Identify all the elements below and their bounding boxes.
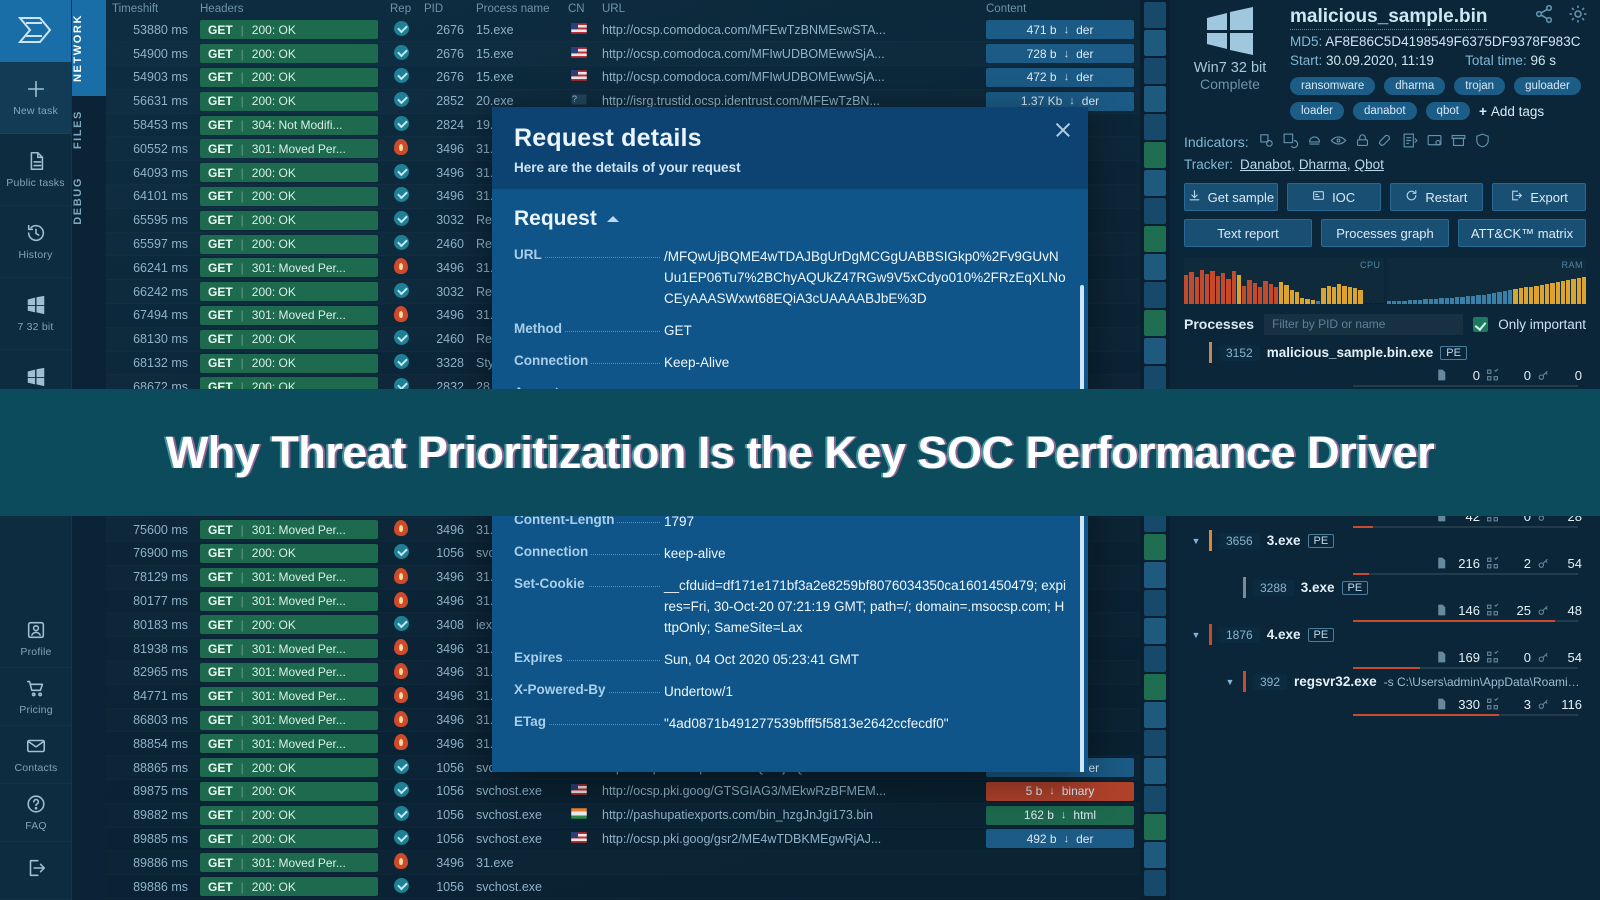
cell-pid: 1056 [418,756,470,780]
column-header-cn[interactable]: CN [562,0,596,18]
http-method: GET [208,118,233,132]
status-badge[interactable]: GET | 301: Moved Per... [200,258,378,277]
report-actions[interactable]: Text reportProcesses graphATT&CK™ matrix [1184,219,1586,247]
tab-files[interactable]: FILES [72,96,106,163]
lock-indicator-icon[interactable] [1354,132,1371,152]
network-row[interactable]: 89875 ms GET | 200: OK 1056 svchost.exe … [106,780,1140,804]
status-badge[interactable]: GET | 301: Moved Per... [200,687,378,706]
cell-reputation [384,89,418,113]
cell-timeshift: 89882 ms [106,803,194,827]
ok-check-icon [394,68,409,83]
screenshot-indicator-icon[interactable] [1426,132,1443,152]
graph-bar [1445,298,1449,304]
primary-actions[interactable]: Get sampleIOCRestartExport [1184,183,1586,211]
file-icon [1435,603,1448,617]
cell-headers[interactable]: GET | 301: Moved Per... [194,661,384,685]
add-tags-label: Add tags [1491,104,1544,119]
status-badge[interactable]: GET | 200: OK [200,92,378,111]
network-row[interactable]: 89886 ms GET | 200: OK 1056 svchost.exe [106,875,1140,899]
graph-bar [1487,294,1491,304]
process-name[interactable]: 3.exe [1301,580,1335,595]
cell-headers[interactable]: GET | 200: OK [194,208,384,232]
http-status: 200: OK [252,285,296,299]
status-badge[interactable]: GET | 200: OK [200,758,378,777]
content-badge[interactable]: 5 b ↓ binary [986,782,1134,801]
app-logo-icon[interactable] [0,0,71,62]
cell-headers[interactable]: GET | 304: Not Modifi... [194,113,384,137]
http-method: GET [208,713,233,727]
cell-headers[interactable]: GET | 200: OK [194,161,384,185]
status-badge[interactable]: GET | 200: OK [200,354,378,373]
rocket-indicator-icon[interactable] [1378,132,1395,152]
status-badge[interactable]: GET | 200: OK [200,877,378,896]
cell-headers[interactable]: GET | 301: Moved Per... [194,304,384,328]
cell-country [562,780,596,804]
status-badge[interactable]: GET | 200: OK [200,235,378,254]
cell-headers[interactable]: GET | 301: Moved Per... [194,256,384,280]
tag-dharma[interactable]: dharma [1384,77,1445,95]
rail-item-pricing[interactable]: Pricing [0,668,72,726]
field-key: ETag [514,714,664,729]
strip-cell [1144,58,1166,84]
rail-item-7-32-bit[interactable]: 7 32 bit [0,278,71,350]
status-badge[interactable]: GET | 301: Moved Per... [200,639,378,658]
graph-bar [1556,282,1560,304]
process-name[interactable]: 3.exe [1267,533,1301,548]
ok-check-icon [394,116,409,131]
graph-bar [1205,274,1209,304]
report-att-ck-matrix-button[interactable]: ATT&CK™ matrix [1458,219,1586,247]
network-row[interactable]: 89882 ms GET | 200: OK 1056 svchost.exe … [106,803,1140,827]
ok-check-icon [394,45,409,60]
cell-headers[interactable]: GET | 200: OK [194,185,384,209]
graph-bar [1221,273,1225,304]
graph-bar [1290,290,1294,304]
status-badge[interactable]: GET | 200: OK [200,544,378,563]
malicious-fire-icon [394,663,408,679]
chevron-up-icon[interactable] [607,216,619,222]
status-badge[interactable]: GET | 200: OK [200,615,378,634]
http-status: 301: Moved Per... [252,665,346,679]
column-header-timeshift[interactable]: Timeshift [106,0,194,18]
graph-bar [1503,291,1507,304]
rail-item-label: History [18,249,52,261]
rail-item-public-tasks[interactable]: Public tasks [0,134,71,206]
script-indicator-icon[interactable] [1402,132,1419,152]
report-processes-graph-button[interactable]: Processes graph [1321,219,1449,247]
modules-count: 3 [1505,697,1531,712]
article-title-banner: Why Threat Prioritization Is the Key SOC… [0,389,1600,516]
http-status: 301: Moved Per... [252,689,346,703]
http-status: 200: OK [252,356,296,370]
download-arrow-icon: ↓ [1061,809,1067,821]
cell-content: 471 b ↓ der [980,18,1140,42]
ok-check-icon [394,330,409,345]
content-badge[interactable]: 162 b ↓ html [986,806,1134,825]
malicious-fire-icon [394,139,408,155]
tag-ransomware[interactable]: ransomware [1290,77,1375,95]
http-status: 301: Moved Per... [252,713,346,727]
report-text-report-button[interactable]: Text report [1184,219,1312,247]
graph-bar [1369,303,1373,304]
cell-process-name: svchost.exe [470,827,562,851]
cell-reputation [384,42,418,66]
cell-reputation [384,351,418,375]
cell-pid: 3496 [418,256,470,280]
cell-process-name: 31.exe [470,851,562,875]
tag-list[interactable]: ransomwaredharmatrojanguloaderloaderdana… [1290,77,1586,120]
archive-indicator-icon[interactable] [1450,132,1467,152]
cell-pid: 3496 [418,518,470,542]
cell-url[interactable]: http://ocsp.comodoca.com/MFIwUDBOMEwwSjA… [596,42,980,66]
md5-label: MD5: [1290,34,1322,49]
cell-timeshift: 75600 ms [106,518,194,542]
column-header-pid[interactable]: PID [418,0,470,18]
rail-item-new-task[interactable]: New task [0,62,71,134]
cell-process-name: 15.exe [470,66,562,90]
cell-headers[interactable]: GET | 200: OK [194,66,384,90]
start-label: Start: [1290,53,1322,68]
rail-item-history[interactable]: History [0,206,71,278]
graph-bar [1455,297,1459,304]
dll-indicator-icon[interactable] [1306,132,1323,152]
cell-url[interactable]: http://ocsp.comodoca.com/MFIwUDBOMEwwSjA… [596,66,980,90]
rail-item-faq[interactable]: FAQ [0,784,72,842]
content-size: 162 b [1024,808,1054,822]
column-header-content[interactable]: Content [980,0,1140,18]
field-key: X-Powered-By [514,682,664,697]
dialog-header: Request details Here are the details of … [492,107,1088,189]
cell-headers[interactable]: GET | 301: Moved Per... [194,565,384,589]
cell-headers[interactable]: GET | 200: OK [194,232,384,256]
rail-item-contacts[interactable]: Contacts [0,726,72,784]
ioc-card-icon [1312,189,1325,205]
cell-headers[interactable]: GET | 200: OK [194,780,384,804]
status-badge[interactable]: GET | 304: Not Modifi... [200,116,378,135]
activity-bar [1353,385,1578,387]
field-value: __cfduid=df171e171bf3a2e8259bf8076034350… [664,576,1066,639]
shield-indicator-icon[interactable] [1474,132,1491,152]
cell-headers[interactable]: GET | 200: OK [194,18,384,42]
cell-headers[interactable]: GET | 200: OK [194,827,384,851]
action-restart-button[interactable]: Restart [1390,183,1484,211]
download-arrow-icon: ↓ [1069,95,1075,107]
network-row[interactable]: 89886 ms GET | 301: Moved Per... 3496 31… [106,851,1140,875]
expand-toggle-icon[interactable]: ▼ [1224,677,1236,687]
sample-name[interactable]: malicious_sample.bin [1290,6,1487,30]
cell-headers[interactable]: GET | 301: Moved Per... [194,732,384,756]
column-header-headers[interactable]: Headers [194,0,384,18]
strip-cell [1144,310,1166,336]
field-value: /MFQwUjBQME4wTDAJBgUrDgMCGgUABBSIGkp0%2F… [664,247,1066,310]
gear-icon[interactable] [1568,4,1588,24]
ok-check-icon [394,544,409,559]
content-badge[interactable]: 728 b ↓ der [986,44,1134,63]
cell-country [562,803,596,827]
strip-cell [1144,198,1166,224]
cell-headers[interactable]: GET | 200: OK [194,280,384,304]
process-row[interactable]: 3288 3.exe PE 146 25 48 [1184,577,1586,622]
eye-indicator-icon[interactable] [1330,132,1347,152]
malicious-fire-icon [394,711,408,727]
tag-danabot[interactable]: danabot [1353,102,1417,120]
network-row[interactable]: 89885 ms GET | 200: OK 1056 svchost.exe … [106,827,1140,851]
status-badge[interactable]: GET | 301: Moved Per... [200,568,378,587]
http-method: GET [208,665,233,679]
expand-toggle-icon[interactable]: ▼ [1190,536,1202,546]
cell-url[interactable] [596,875,980,899]
rail-item-logout[interactable] [0,842,72,900]
status-badge[interactable]: GET | 301: Moved Per... [200,734,378,753]
field-key: URL [514,247,664,262]
add-tags-button[interactable]: +Add tags [1479,104,1544,119]
cell-content: 162 b ↓ html [980,803,1140,827]
process-row[interactable]: ▼ 1876 4.exe PE 169 0 54 [1184,624,1586,669]
status-badge[interactable]: GET | 301: Moved Per... [200,306,378,325]
tag-guloader[interactable]: guloader [1514,77,1581,95]
country-flag-icon [571,70,587,81]
graph-bar [1534,286,1538,304]
status-badge[interactable]: GET | 301: Moved Per... [200,663,378,682]
status-badge[interactable]: GET | 200: OK [200,829,378,848]
status-badge[interactable]: GET | 200: OK [200,20,378,39]
cell-headers[interactable]: GET | 200: OK [194,42,384,66]
plus-icon [25,78,47,100]
cell-content [980,851,1140,875]
cell-headers[interactable]: GET | 301: Moved Per... [194,137,384,161]
http-status: 301: Moved Per... [252,261,346,275]
network-indicator-icon[interactable] [1258,132,1275,152]
cell-pid: 2852 [418,89,470,113]
http-method: GET [208,142,233,156]
status-badge[interactable]: GET | 200: OK [200,187,378,206]
cell-timeshift: 84771 ms [106,684,194,708]
strip-cell [1144,870,1166,896]
activity-bar [1353,526,1578,528]
column-header-rep[interactable]: Rep [384,0,418,18]
restart-icon [1405,189,1418,205]
only-important-checkbox[interactable] [1473,317,1488,332]
files-count: 169 [1454,650,1480,665]
tracker-link-qbot[interactable]: Qbot [1355,157,1384,172]
content-badge[interactable]: 472 b ↓ der [986,68,1134,87]
modules-icon [1486,556,1499,570]
status-badge[interactable]: GET | 301: Moved Per... [200,139,378,158]
cell-headers[interactable]: GET | 200: OK [194,803,384,827]
cell-timeshift: 76900 ms [106,542,194,566]
graph-bar [1519,288,1523,304]
content-size: 728 b [1027,47,1057,61]
process-filter-input[interactable] [1264,314,1463,335]
tab-debug[interactable]: DEBUG [72,163,106,239]
http-method: GET [208,689,233,703]
http-method: GET [208,546,233,560]
status-badge[interactable]: GET | 200: OK [200,68,378,87]
column-header-process-name[interactable]: Process name [470,0,562,18]
country-flag-icon [571,94,587,105]
country-flag-icon [571,832,587,843]
status-badge[interactable]: GET | 301: Moved Per... [200,853,378,872]
cell-headers[interactable]: GET | 200: OK [194,89,384,113]
rail-item-label: Profile [20,646,51,658]
status-badge[interactable]: GET | 200: OK [200,44,378,63]
cell-headers[interactable]: GET | 301: Moved Per... [194,589,384,613]
strip-cell [1144,674,1166,700]
cell-timeshift: 53880 ms [106,18,194,42]
http-status: 200: OK [252,47,296,61]
pe-badge: PE [1440,346,1467,360]
tracker-link-dharma[interactable]: Dharma, [1299,157,1351,172]
http-status: 200: OK [252,94,296,108]
content-badge[interactable]: 471 b ↓ der [986,20,1134,39]
ram-graph: RAM [1387,258,1587,304]
network-row[interactable]: 53880 ms GET | 200: OK 2676 15.exe http:… [106,18,1140,42]
content-type: der [1076,70,1093,84]
ok-check-icon [394,164,409,179]
network-row[interactable]: 54900 ms GET | 200: OK 2676 15.exe http:… [106,42,1140,66]
cell-timeshift: 86803 ms [106,708,194,732]
cell-pid: 2824 [418,113,470,137]
graph-bar [1348,287,1352,304]
tab-network[interactable]: NETWORK [72,0,106,96]
expand-toggle-icon[interactable]: ▼ [1190,630,1202,640]
tag-trojan[interactable]: trojan [1454,77,1505,95]
graph-bar [1460,297,1464,304]
process-name[interactable]: 4.exe [1267,627,1301,642]
process-row[interactable]: ▼ 392 regsvr32.exe -s C:\Users\admin\App… [1184,671,1586,716]
status-badge[interactable]: GET | 301: Moved Per... [200,592,378,611]
http-method: GET [208,356,233,370]
panel-actions [1534,4,1588,24]
status-badge[interactable]: GET | 200: OK [200,163,378,182]
graph-bar [1364,303,1368,304]
cell-headers[interactable]: GET | 301: Moved Per... [194,518,384,542]
files-count: 330 [1454,697,1480,712]
cell-headers[interactable]: GET | 301: Moved Per... [194,684,384,708]
process-row[interactable]: ▼ 3656 3.exe PE 216 2 54 [1184,530,1586,575]
status-badge[interactable]: GET | 200: OK [200,806,378,825]
status-badge[interactable]: GET | 200: OK [200,330,378,349]
status-badge[interactable]: GET | 301: Moved Per... [200,520,378,539]
process-pid: 392 [1253,674,1287,690]
ok-check-icon [394,806,409,821]
cell-timeshift: 88854 ms [106,732,194,756]
share-icon[interactable] [1534,4,1554,24]
cell-url[interactable]: http://ocsp.comodoca.com/MFEwTzBNMEswSTA… [596,18,980,42]
ok-check-icon [394,235,409,250]
ok-check-icon [394,782,409,797]
cell-timeshift: 68132 ms [106,351,194,375]
cell-reputation [384,304,418,328]
cell-headers[interactable]: GET | 301: Moved Per... [194,637,384,661]
content-badge[interactable]: 492 b ↓ der [986,829,1134,848]
process-row[interactable]: 3152 malicious_sample.bin.exe PE 0 0 0 [1184,342,1586,387]
action-ioc-button[interactable]: IOC [1287,183,1381,211]
activity-bar [1353,667,1578,669]
graph-bar [1577,278,1581,304]
dialog-scrollbar[interactable] [1080,285,1084,772]
graph-bar [1374,303,1378,304]
severity-bar [1209,624,1212,645]
processes-title: Processes [1184,316,1254,332]
request-section-toggle[interactable]: Request [514,207,1066,231]
column-header-url[interactable]: URL [596,0,980,18]
process-name[interactable]: malicious_sample.bin.exe [1267,345,1434,360]
ok-check-icon [394,878,409,893]
status-badge[interactable]: GET | 301: Moved Per... [200,711,378,730]
cell-url[interactable]: http://ocsp.pki.goog/GTSGIAG3/MEkwRzBFME… [596,780,980,804]
graph-bar [1353,288,1357,304]
cell-country [562,827,596,851]
cell-pid: 1056 [418,827,470,851]
graph-bar [1540,285,1544,304]
request-section-label: Request [514,207,597,231]
tag-loader[interactable]: loader [1290,102,1344,120]
graph-bar [1429,299,1433,304]
graph-bar [1423,299,1427,304]
tag-qbot[interactable]: qbot [1426,102,1470,120]
activity-bar [1353,620,1578,622]
button-label: Restart [1425,190,1467,205]
cell-url[interactable]: http://ocsp.pki.goog/gsr2/ME4wTDBKMEgwRj… [596,827,980,851]
cell-url[interactable] [596,851,980,875]
os-label: Win7 32 bit [1184,60,1276,76]
tracker-link-danabot[interactable]: Danabot, [1240,157,1295,172]
ok-check-icon [394,187,409,202]
cpu-graph: CPU [1184,258,1384,304]
cell-headers[interactable]: GET | 301: Moved Per... [194,708,384,732]
file-icon [1435,556,1448,570]
rail-item-profile[interactable]: Profile [0,610,72,668]
http-method: GET [208,70,233,84]
resource-graphs: CPU RAM [1184,258,1586,304]
network-row[interactable]: 54903 ms GET | 200: OK 2676 15.exe http:… [106,66,1140,90]
graph-bar [1402,301,1406,304]
cell-timeshift: 58453 ms [106,113,194,137]
rail-item-label: Pricing [19,704,53,716]
cell-url[interactable]: http://pashupatiexports.com/bin_hzgJnJgi… [596,803,980,827]
start-line: Start: 30.09.2020, 11:19 Total time: 96 … [1290,53,1586,68]
cell-headers[interactable]: GET | 301: Moved Per... [194,851,384,875]
cell-headers[interactable]: GET | 200: OK [194,327,384,351]
cell-reputation [384,208,418,232]
cell-headers[interactable]: GET | 200: OK [194,613,384,637]
action-export-button[interactable]: Export [1492,183,1586,211]
cell-headers[interactable]: GET | 200: OK [194,542,384,566]
status-badge[interactable]: GET | 200: OK [200,782,378,801]
close-icon[interactable] [1054,121,1072,139]
modules-count: 2 [1505,556,1531,571]
cell-timeshift: 65597 ms [106,232,194,256]
cell-timeshift: 81938 ms [106,637,194,661]
ok-check-icon [394,92,409,107]
graph-bar [1274,287,1278,304]
status-badge[interactable]: GET | 200: OK [200,211,378,230]
cell-headers[interactable]: GET | 200: OK [194,875,384,899]
action-get-sample-button[interactable]: Get sample [1184,183,1278,211]
cell-headers[interactable]: GET | 200: OK [194,756,384,780]
activity-bar [1353,573,1578,575]
cell-pid: 3496 [418,637,470,661]
cell-headers[interactable]: GET | 200: OK [194,351,384,375]
severity-bar [1243,671,1246,692]
process-name[interactable]: regsvr32.exe [1294,674,1377,689]
http-method: GET [208,832,233,846]
status-badge[interactable]: GET | 200: OK [200,282,378,301]
http-method: GET [208,94,233,108]
keys-count: 54 [1556,556,1582,571]
registry-indicator-icon[interactable] [1282,132,1299,152]
